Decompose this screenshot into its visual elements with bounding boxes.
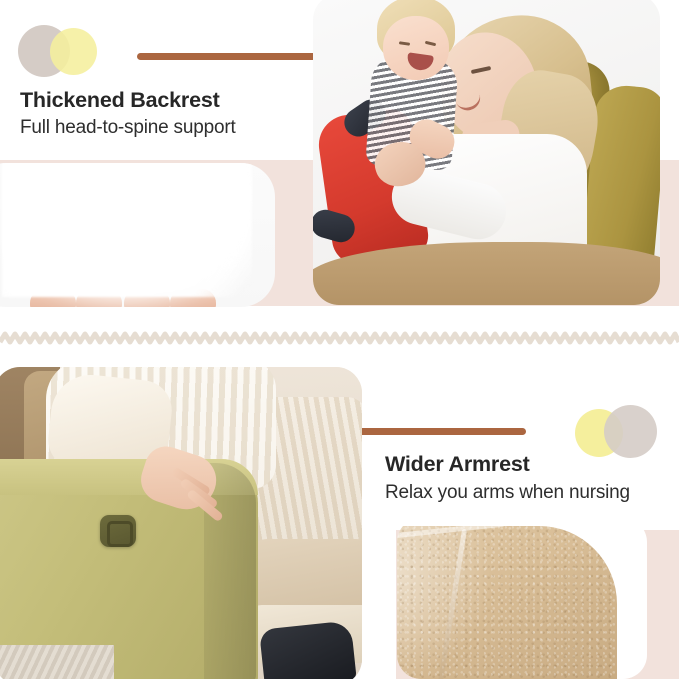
section-heading-armrest: Wider Armrest	[385, 452, 530, 477]
accent-rule-bottom	[362, 428, 526, 435]
photo-armrest-scene	[0, 367, 362, 679]
photo-armrest-closeup	[397, 518, 647, 679]
taupe-circle-icon	[604, 405, 657, 458]
accent-rule-top	[137, 53, 313, 60]
product-infographic: Thickened Backrest Full head-to-spine su…	[0, 0, 679, 679]
section-heading-backrest: Thickened Backrest	[20, 88, 220, 113]
photo-mother-baby	[313, 0, 660, 305]
zigzag-divider	[0, 331, 679, 345]
section-subheading-armrest: Relax you arms when nursing	[385, 482, 630, 504]
photo-fiberfill	[0, 163, 275, 307]
yellow-circle-icon	[50, 28, 97, 75]
section-subheading-backrest: Full head-to-spine support	[20, 117, 236, 139]
